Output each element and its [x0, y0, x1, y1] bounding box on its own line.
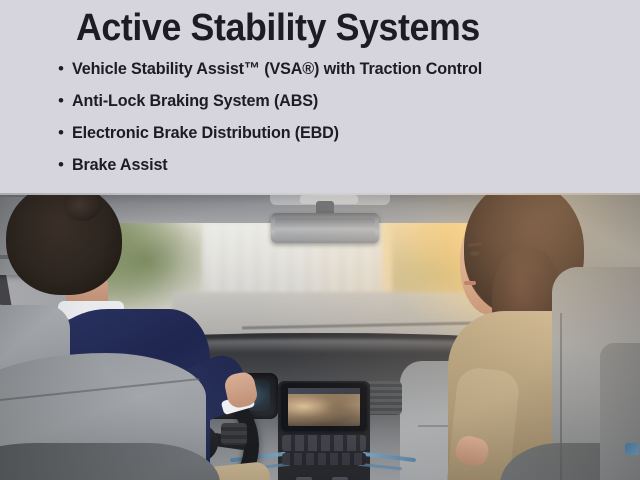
rear-seat-right-bolster [600, 343, 640, 480]
list-item-label: Brake Assist [72, 154, 168, 175]
mirror-glass [275, 218, 375, 238]
seat-badge-icon [625, 443, 639, 455]
bullet-point-icon: • [58, 122, 72, 143]
rear-seat-right-seam [560, 313, 562, 480]
rear-seat-left-cushion [0, 443, 220, 480]
photo-top-edge [0, 193, 640, 195]
page-title: Active Stability Systems [76, 7, 480, 49]
feature-bullet-list: • Vehicle Stability Assist™ (VSA®) with … [58, 58, 628, 186]
vehicle-interior-photo [0, 193, 640, 480]
audio-control-row [282, 453, 366, 465]
bullet-point-icon: • [58, 58, 72, 79]
screen-status-bar [288, 388, 360, 394]
list-item: • Brake Assist [58, 154, 628, 186]
list-item: • Vehicle Stability Assist™ (VSA®) with … [58, 58, 628, 90]
passenger-eye [470, 251, 480, 256]
list-item: • Anti-Lock Braking System (ABS) [58, 90, 628, 122]
slide-text-area: Active Stability Systems • Vehicle Stabi… [0, 0, 640, 193]
steering-wheel-controls-right [221, 423, 247, 445]
gear-selector-panel [288, 471, 358, 480]
list-item-label: Electronic Brake Distribution (EBD) [72, 122, 339, 143]
climate-control-row [282, 435, 366, 451]
passenger-lips [464, 281, 476, 285]
list-item-label: Vehicle Stability Assist™ (VSA®) with Tr… [72, 58, 482, 79]
list-item-label: Anti-Lock Braking System (ABS) [72, 90, 318, 111]
bullet-point-icon: • [58, 154, 72, 175]
list-item: • Electronic Brake Distribution (EBD) [58, 122, 628, 154]
infotainment-screen [288, 388, 360, 426]
bullet-point-icon: • [58, 90, 72, 111]
rearview-mirror [271, 213, 379, 243]
presentation-slide: Active Stability Systems • Vehicle Stabi… [0, 0, 640, 480]
